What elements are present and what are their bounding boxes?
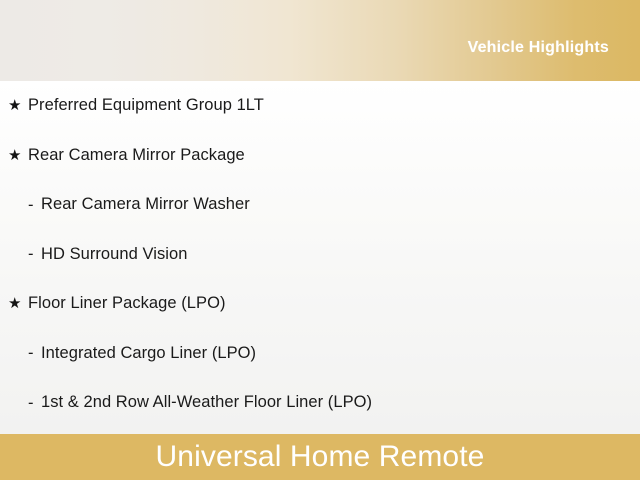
list-item-label: Integrated Cargo Liner (LPO) (36, 344, 256, 363)
list-item[interactable]: - Rear Camera Mirror Washer (0, 180, 640, 230)
list-item[interactable]: - Integrated Cargo Liner (LPO) (0, 329, 640, 379)
list-item-label: Rear Camera Mirror Package (28, 146, 245, 165)
dash-icon: - (28, 395, 36, 412)
dash-icon: - (28, 345, 36, 362)
list-item-label: Preferred Equipment Group 1LT (28, 96, 264, 115)
list-item-label: HD Surround Vision (36, 245, 187, 264)
dash-icon: - (28, 246, 36, 263)
list-item[interactable]: - 1st & 2nd Row All-Weather Floor Liner … (0, 378, 640, 428)
star-icon: ★ (8, 296, 28, 311)
dash-icon: - (28, 197, 36, 214)
page-title: Vehicle Highlights (468, 25, 640, 57)
list-item-label: Rear Camera Mirror Washer (36, 195, 250, 214)
list-item-label: 1st & 2nd Row All-Weather Floor Liner (L… (36, 393, 372, 412)
footer-title: Universal Home Remote (156, 442, 485, 472)
list-item-label: Floor Liner Package (LPO) (28, 294, 226, 313)
panel-header: Vehicle Highlights (0, 0, 640, 81)
star-icon: ★ (8, 148, 28, 163)
list-item[interactable]: ★ Floor Liner Package (LPO) (0, 279, 640, 329)
vehicle-highlights-panel: Vehicle Highlights ★ Preferred Equipment… (0, 0, 640, 480)
list-item[interactable]: ★ Rear Camera Mirror Package (0, 131, 640, 181)
highlights-list: ★ Preferred Equipment Group 1LT ★ Rear C… (0, 81, 640, 434)
star-icon: ★ (8, 98, 28, 113)
list-item[interactable]: ★ Preferred Equipment Group 1LT (0, 81, 640, 131)
panel-footer: Universal Home Remote (0, 434, 640, 480)
list-item[interactable]: - HD Surround Vision (0, 230, 640, 280)
